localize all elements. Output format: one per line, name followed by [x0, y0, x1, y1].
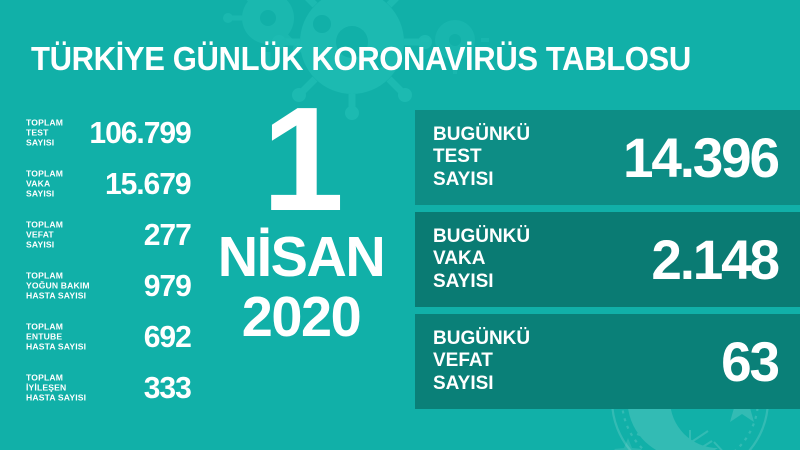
- total-test-count-value: 106.799: [89, 117, 200, 148]
- total-death-count: TOPLAM VEFAT SAYISI 277: [0, 209, 200, 260]
- total-intubated-count-label: TOPLAM ENTUBE HASTA SAYISI: [26, 321, 86, 352]
- total-death-count-label: TOPLAM VEFAT SAYISI: [26, 219, 63, 250]
- daily-case-count: BUGÜNKÜ VAKA SAYISI 2.148: [415, 212, 800, 307]
- total-test-count: TOPLAM TEST SAYISI 106.799: [0, 107, 200, 158]
- daily-death-count-value: 63: [535, 334, 778, 390]
- daily-test-count-label: BUGÜNKÜ TEST SAYISI: [433, 124, 530, 192]
- daily-case-count-label: BUGÜNKÜ VAKA SAYISI: [433, 226, 530, 294]
- daily-case-count-value: 2.148: [535, 232, 778, 288]
- total-case-count-label: TOPLAM VAKA SAYISI: [26, 168, 63, 199]
- total-death-count-value: 277: [143, 219, 200, 250]
- total-intubated-count: TOPLAM ENTUBE HASTA SAYISI 692: [0, 311, 200, 362]
- daily-death-count-label: BUGÜNKÜ VEFAT SAYISI: [433, 328, 530, 396]
- total-intensive-care-count: TOPLAM YOĞUN BAKIM HASTA SAYISI 979: [0, 260, 200, 311]
- total-intubated-count-value: 692: [143, 321, 200, 352]
- ministry-of-health-emblem-icon: [614, 438, 642, 450]
- total-recovered-count: TOPLAM İYİLEŞEN HASTA SAYISI 333: [0, 362, 200, 413]
- date-month: NİSAN: [207, 228, 395, 286]
- total-intensive-care-count-label: TOPLAM YOĞUN BAKIM HASTA SAYISI: [26, 270, 90, 301]
- page-title: TÜRKİYE GÜNLÜK KORONAVİRÜS TABLOSU: [31, 40, 691, 78]
- total-recovered-count-value: 333: [143, 372, 200, 403]
- daily-death-count: BUGÜNKÜ VEFAT SAYISI 63: [415, 314, 800, 409]
- date-day: 1: [205, 100, 397, 220]
- totals-column: TOPLAM TEST SAYISI 106.799 TOPLAM VAKA S…: [0, 107, 200, 413]
- total-case-count-value: 15.679: [105, 168, 200, 199]
- coronavirus-daily-table-infographic: TÜRKİYE GÜNLÜK KORONAVİRÜS TABLOSU TOPLA…: [0, 0, 800, 450]
- daily-column: BUGÜNKÜ TEST SAYISI 14.396 BUGÜNKÜ VAKA …: [415, 110, 800, 409]
- total-test-count-label: TOPLAM TEST SAYISI: [26, 117, 63, 148]
- daily-test-count: BUGÜNKÜ TEST SAYISI 14.396: [415, 110, 800, 205]
- date-year: 2020: [207, 288, 395, 346]
- total-recovered-count-label: TOPLAM İYİLEŞEN HASTA SAYISI: [26, 372, 86, 403]
- daily-test-count-value: 14.396: [535, 130, 778, 186]
- total-case-count: TOPLAM VAKA SAYISI 15.679: [0, 158, 200, 209]
- total-intensive-care-count-value: 979: [143, 270, 200, 301]
- date-block: 1 NİSAN 2020: [205, 100, 397, 346]
